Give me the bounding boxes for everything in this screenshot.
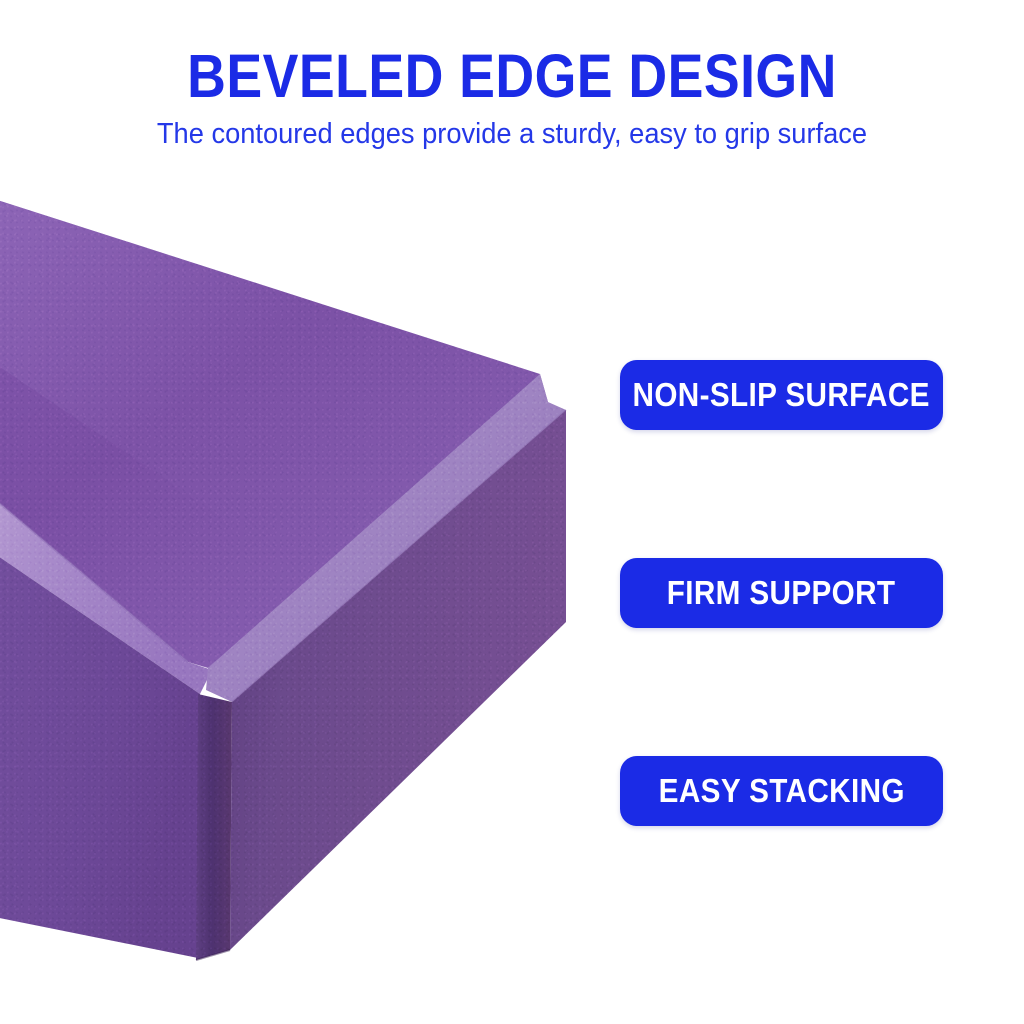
feature-badge-non-slip-surface[interactable]: NON-SLIP SURFACE [620,360,943,430]
block-corner-bevel [196,694,232,960]
product-image [0,170,580,970]
feature-badge-label: EASY STACKING [658,774,904,808]
header: BEVELED EDGE DESIGN The contoured edges … [0,0,1024,175]
page-title: BEVELED EDGE DESIGN [61,45,962,107]
feature-badge-label: NON-SLIP SURFACE [633,378,930,412]
feature-badge-label: FIRM SUPPORT [667,576,896,610]
infographic-canvas: BEVELED EDGE DESIGN The contoured edges … [0,0,1024,1024]
feature-badge-firm-support[interactable]: FIRM SUPPORT [620,558,943,628]
page-subtitle: The contoured edges provide a sturdy, ea… [31,117,994,151]
yoga-block-illustration [0,170,580,970]
feature-badge-easy-stacking[interactable]: EASY STACKING [620,756,943,826]
feature-badge-list: NON-SLIP SURFACE FIRM SUPPORT EASY STACK… [620,360,945,826]
